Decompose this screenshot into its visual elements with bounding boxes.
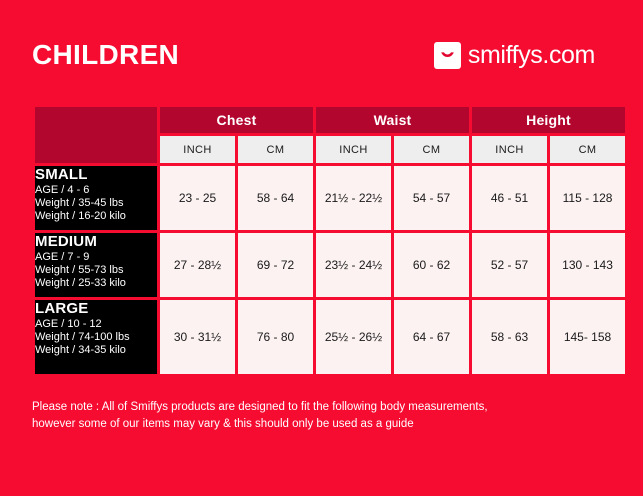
size-weight-lbs: Weight / 55-73 lbs: [35, 264, 157, 277]
size-label-large: LARGE AGE / 10 - 12 Weight / 74-100 lbs …: [35, 300, 157, 374]
size-weight-lbs: Weight / 35-45 lbs: [35, 197, 157, 210]
cell-waist-cm: 54 - 57: [394, 166, 469, 230]
size-chart-table: Chest Waist Height INCH CM INCH CM INCH …: [32, 104, 628, 377]
cell-height-cm: 145- 158: [550, 300, 625, 374]
size-name: LARGE: [35, 300, 157, 318]
cell-height-cm: 115 - 128: [550, 166, 625, 230]
unit-header-waist-inch: INCH: [316, 136, 391, 163]
table-row: SMALL AGE / 4 - 6 Weight / 35-45 lbs Wei…: [35, 166, 625, 230]
size-name: MEDIUM: [35, 233, 157, 251]
chart-header: CHILDREN smiffys.com: [32, 0, 611, 104]
cell-chest-inch: 30 - 31½: [160, 300, 235, 374]
page-title: CHILDREN: [32, 41, 179, 69]
footer-note-line-1: Please note : All of Smiffys products ar…: [32, 399, 611, 416]
cell-chest-cm: 76 - 80: [238, 300, 313, 374]
cell-height-cm: 130 - 143: [550, 233, 625, 297]
column-group-chest: Chest: [160, 107, 313, 133]
unit-header-chest-cm: CM: [238, 136, 313, 163]
cell-chest-cm: 69 - 72: [238, 233, 313, 297]
unit-header-height-cm: CM: [550, 136, 625, 163]
table-row: LARGE AGE / 10 - 12 Weight / 74-100 lbs …: [35, 300, 625, 374]
cell-chest-inch: 23 - 25: [160, 166, 235, 230]
corner-cell: [35, 107, 157, 163]
unit-header-waist-cm: CM: [394, 136, 469, 163]
size-name: SMALL: [35, 166, 157, 184]
table-group-header-row: Chest Waist Height: [35, 107, 625, 133]
cell-chest-inch: 27 - 28½: [160, 233, 235, 297]
size-weight-kilo: Weight / 34-35 kilo: [35, 344, 157, 357]
size-age: AGE / 7 - 9: [35, 251, 157, 264]
brand-name: smiffys.com: [468, 43, 595, 68]
unit-header-chest-inch: INCH: [160, 136, 235, 163]
cell-height-inch: 58 - 63: [472, 300, 547, 374]
cell-waist-inch: 23½ - 24½: [316, 233, 391, 297]
column-group-height: Height: [472, 107, 625, 133]
cell-height-inch: 46 - 51: [472, 166, 547, 230]
column-group-waist: Waist: [316, 107, 469, 133]
smile-swoosh-icon: [434, 42, 461, 69]
size-weight-kilo: Weight / 16-20 kilo: [35, 210, 157, 223]
cell-height-inch: 52 - 57: [472, 233, 547, 297]
size-label-medium: MEDIUM AGE / 7 - 9 Weight / 55-73 lbs We…: [35, 233, 157, 297]
size-weight-lbs: Weight / 74-100 lbs: [35, 331, 157, 344]
size-age: AGE / 4 - 6: [35, 184, 157, 197]
brand-logo: smiffys.com: [434, 42, 595, 69]
table-row: MEDIUM AGE / 7 - 9 Weight / 55-73 lbs We…: [35, 233, 625, 297]
footer-note: Please note : All of Smiffys products ar…: [32, 399, 611, 432]
cell-chest-cm: 58 - 64: [238, 166, 313, 230]
unit-header-height-inch: INCH: [472, 136, 547, 163]
cell-waist-cm: 64 - 67: [394, 300, 469, 374]
cell-waist-inch: 21½ - 22½: [316, 166, 391, 230]
footer-note-line-2: however some of our items may vary & thi…: [32, 416, 611, 433]
cell-waist-cm: 60 - 62: [394, 233, 469, 297]
size-chart-sheet: CHILDREN smiffys.com Chest Waist Height: [0, 0, 643, 496]
size-age: AGE / 10 - 12: [35, 318, 157, 331]
cell-waist-inch: 25½ - 26½: [316, 300, 391, 374]
size-label-small: SMALL AGE / 4 - 6 Weight / 35-45 lbs Wei…: [35, 166, 157, 230]
size-weight-kilo: Weight / 25-33 kilo: [35, 277, 157, 290]
